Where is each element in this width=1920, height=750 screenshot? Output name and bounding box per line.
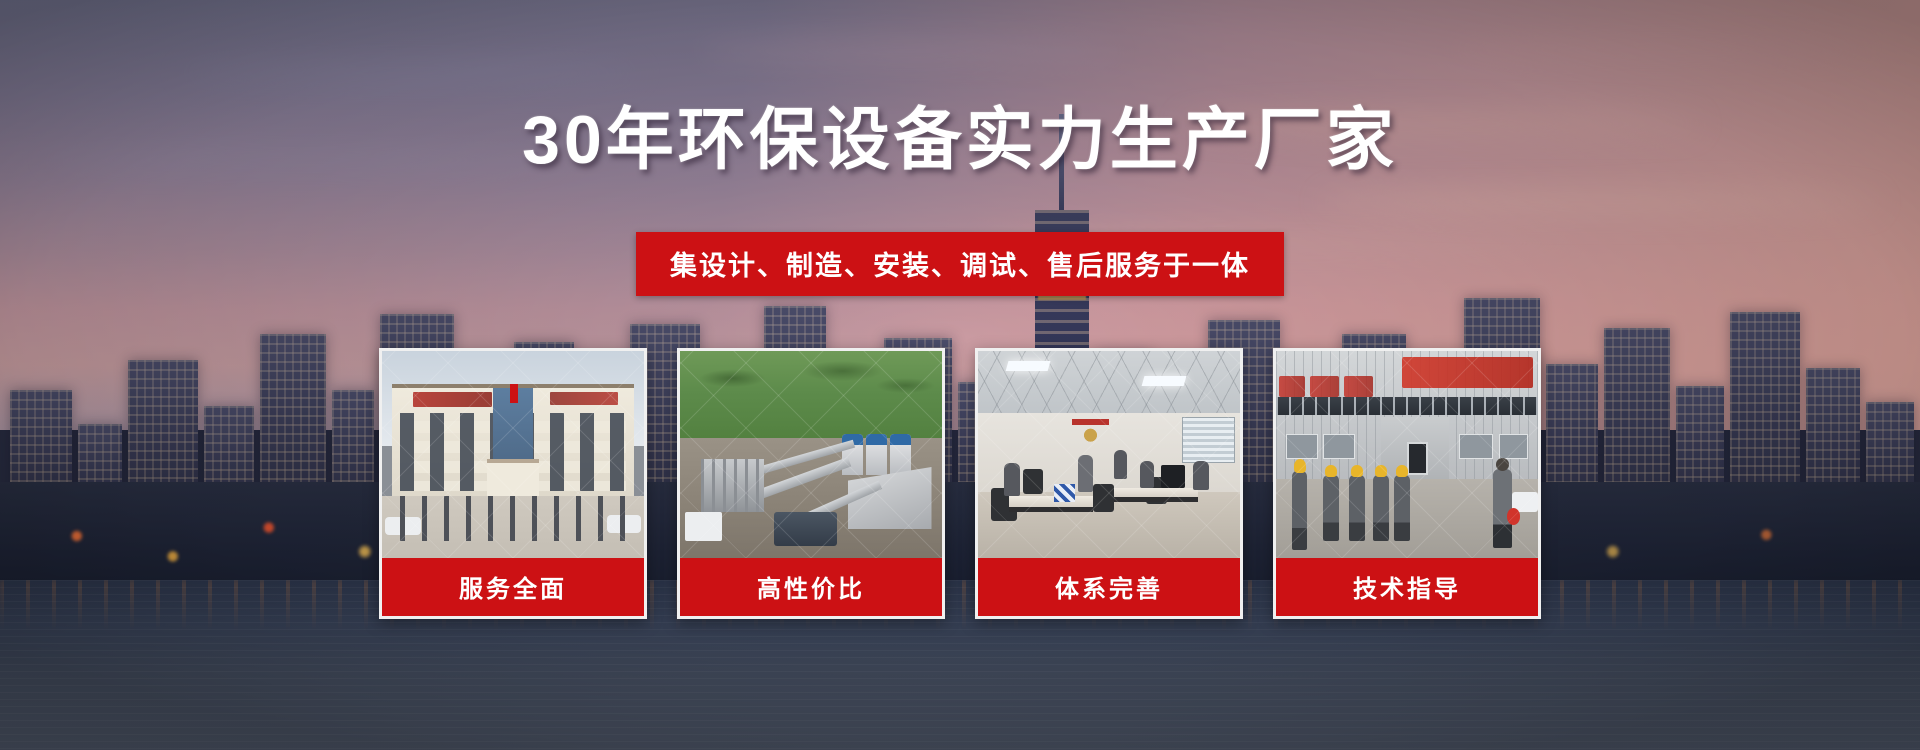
window bbox=[1323, 434, 1354, 459]
window bbox=[1499, 434, 1528, 459]
loading-shed bbox=[774, 512, 837, 545]
staff-member bbox=[1193, 461, 1209, 490]
desk bbox=[1114, 488, 1198, 502]
window-blinds bbox=[1182, 417, 1234, 463]
card-thumbnail-office-interior-with-staff-at-desks bbox=[978, 351, 1240, 558]
desk bbox=[1009, 496, 1093, 513]
clerestory-windows bbox=[1276, 397, 1538, 416]
card-caption: 体系完善 bbox=[978, 558, 1240, 616]
worker-with-hard-hat bbox=[1323, 475, 1339, 541]
window bbox=[1286, 434, 1317, 459]
headline: 30年环保设备实力生产厂家 bbox=[0, 106, 1920, 174]
desk-items bbox=[1054, 484, 1075, 503]
card-caption: 服务全面 bbox=[382, 558, 644, 616]
storage-silo bbox=[890, 434, 911, 475]
building-phone-text bbox=[550, 392, 618, 404]
wall-slogan-text bbox=[1279, 376, 1305, 397]
feature-card[interactable]: 高性价比 bbox=[677, 348, 945, 619]
red-helmet bbox=[1507, 508, 1520, 525]
window bbox=[1459, 434, 1493, 459]
office-chair bbox=[1023, 469, 1044, 494]
worker-with-hard-hat bbox=[1394, 475, 1410, 541]
staff-member bbox=[1078, 455, 1094, 492]
card-thumbnail-company-office-building-with-staff-lineup bbox=[382, 351, 644, 558]
feature-card-list: 服务全面 bbox=[0, 348, 1920, 619]
factory-sign-text bbox=[1402, 357, 1533, 388]
monitor bbox=[1161, 465, 1185, 488]
subbanner-wrapper: 集设计、制造、安装、调试、售后服务于一体 bbox=[0, 232, 1920, 296]
wall-slogan-text bbox=[1310, 376, 1339, 397]
worker-with-hard-hat bbox=[1373, 475, 1389, 541]
card-caption: 技术指导 bbox=[1276, 558, 1538, 616]
ceiling-light bbox=[1005, 361, 1050, 371]
ceiling-light bbox=[1142, 376, 1187, 386]
staff-member bbox=[1114, 450, 1127, 479]
scene bbox=[382, 351, 644, 558]
office-block bbox=[685, 512, 722, 541]
staff-member bbox=[1140, 461, 1153, 488]
card-thumbnail-aerial-view-industrial-plant bbox=[680, 351, 942, 558]
subheadline-red-banner: 集设计、制造、安装、调试、售后服务于一体 bbox=[636, 232, 1284, 296]
hero-banner: 30年环保设备实力生产厂家 集设计、制造、安装、调试、售后服务于一体 bbox=[0, 0, 1920, 750]
scene bbox=[978, 351, 1240, 558]
personnel-door bbox=[1407, 442, 1428, 475]
feature-card[interactable]: 技术指导 bbox=[1273, 348, 1541, 619]
office-chair bbox=[1093, 484, 1114, 513]
card-thumbnail-factory-workers-in-hard-hats bbox=[1276, 351, 1538, 558]
wall-decal bbox=[1072, 419, 1109, 446]
green-farmland bbox=[680, 351, 942, 442]
banner-content: 30年环保设备实力生产厂家 集设计、制造、安装、调试、售后服务于一体 bbox=[0, 0, 1920, 750]
storage-silo bbox=[866, 434, 887, 475]
flag bbox=[510, 384, 518, 403]
wall-slogan-text bbox=[1344, 376, 1373, 397]
worker-with-hard-hat bbox=[1292, 471, 1308, 550]
worker-with-hard-hat bbox=[1349, 475, 1365, 541]
staff-member bbox=[1004, 463, 1020, 496]
processing-tower bbox=[701, 459, 764, 513]
storage-silo bbox=[842, 434, 863, 475]
feature-card[interactable]: 体系完善 bbox=[975, 348, 1243, 619]
scene bbox=[680, 351, 942, 558]
feature-card[interactable]: 服务全面 bbox=[379, 348, 647, 619]
staff-lineup bbox=[400, 496, 625, 542]
building-sign-text bbox=[413, 392, 492, 406]
scene bbox=[1276, 351, 1538, 558]
card-caption: 高性价比 bbox=[680, 558, 942, 616]
